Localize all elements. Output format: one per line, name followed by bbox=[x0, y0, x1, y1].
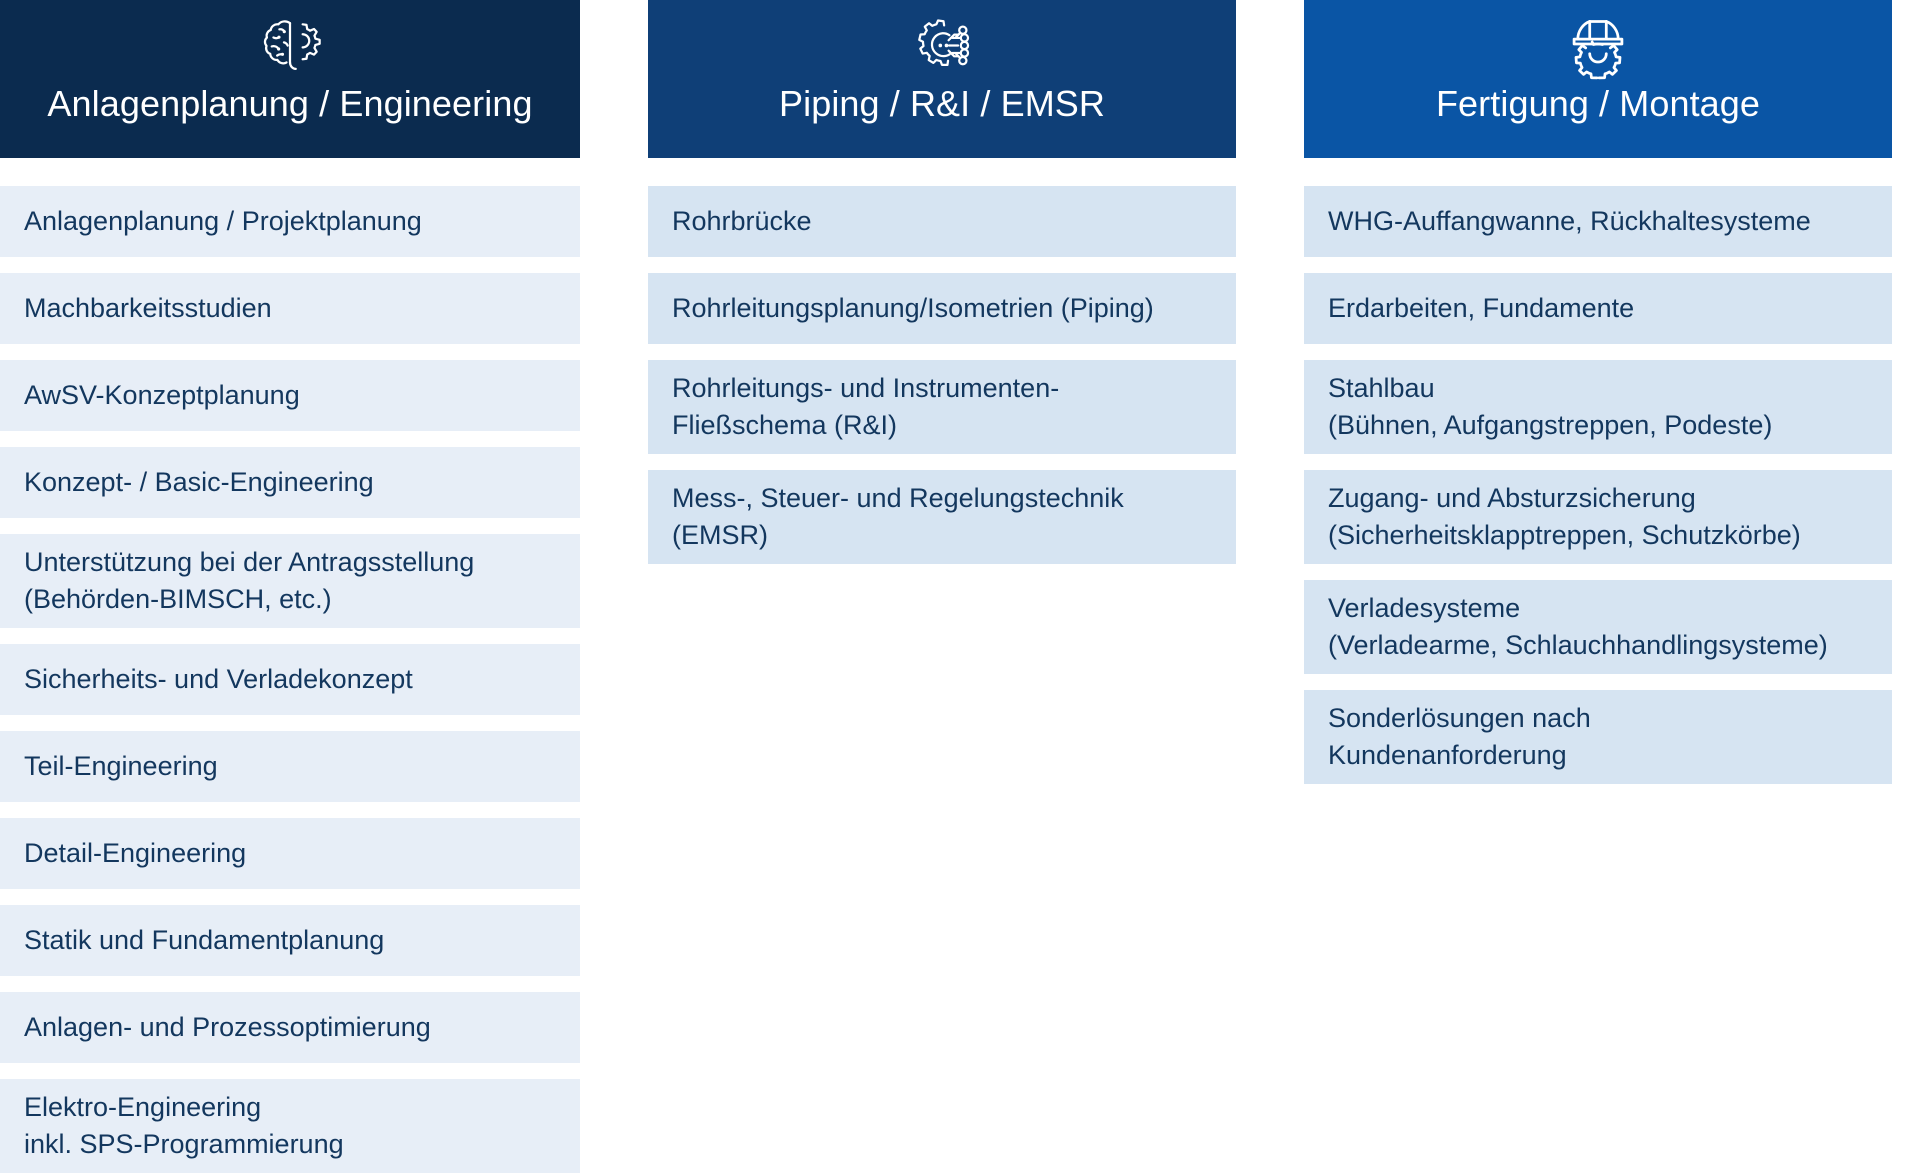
service-item-label: Unterstützung bei der Antragsstellung (B… bbox=[24, 544, 474, 618]
service-item-label: Mess-, Steuer- und Regelungstechnik (EMS… bbox=[672, 480, 1124, 554]
service-item-list-fertigung-montage: WHG-Auffangwanne, Rückhaltesysteme Erdar… bbox=[1304, 186, 1892, 784]
service-item-label: Sonderlösungen nach Kundenanforderung bbox=[1328, 700, 1591, 774]
hard-hat-gear-icon bbox=[1564, 12, 1632, 80]
service-item-label: Machbarkeitsstudien bbox=[24, 290, 272, 327]
service-overview-board: Anlagenplanung / Engineering Anlagenplan… bbox=[0, 0, 1920, 1141]
service-item[interactable]: Erdarbeiten, Fundamente bbox=[1304, 273, 1892, 344]
gear-circuit-icon bbox=[908, 12, 976, 80]
service-item[interactable]: Stahlbau (Bühnen, Aufgangstreppen, Podes… bbox=[1304, 360, 1892, 454]
service-column-piping-ri-emsr: Piping / R&I / EMSR Rohrbrücke Rohrleitu… bbox=[648, 0, 1236, 564]
service-item[interactable]: Verladesysteme (Verladearme, Schlauchhan… bbox=[1304, 580, 1892, 674]
service-columns: Anlagenplanung / Engineering Anlagenplan… bbox=[0, 0, 1920, 1173]
column-header-anlagenplanung-engineering: Anlagenplanung / Engineering bbox=[0, 0, 580, 158]
service-item[interactable]: Konzept- / Basic-Engineering bbox=[0, 447, 580, 518]
service-column-anlagenplanung-engineering: Anlagenplanung / Engineering Anlagenplan… bbox=[0, 0, 580, 1173]
service-item-label: Zugang- und Absturzsicherung (Sicherheit… bbox=[1328, 480, 1801, 554]
service-item[interactable]: Anlagenplanung / Projektplanung bbox=[0, 186, 580, 257]
service-item-label: WHG-Auffangwanne, Rückhaltesysteme bbox=[1328, 203, 1811, 240]
service-item-label: Statik und Fundamentplanung bbox=[24, 922, 384, 959]
service-item[interactable]: Sonderlösungen nach Kundenanforderung bbox=[1304, 690, 1892, 784]
column-title: Fertigung / Montage bbox=[1436, 82, 1760, 126]
brain-gear-icon bbox=[256, 12, 324, 80]
service-item-label: Rohrbrücke bbox=[672, 203, 812, 240]
service-item-label: Sicherheits- und Verladekonzept bbox=[24, 661, 413, 698]
service-item[interactable]: Elektro-Engineering inkl. SPS-Programmie… bbox=[0, 1079, 580, 1173]
service-item[interactable]: Sicherheits- und Verladekonzept bbox=[0, 644, 580, 715]
service-item-label: Anlagen- und Prozessoptimierung bbox=[24, 1009, 431, 1046]
service-item[interactable]: Unterstützung bei der Antragsstellung (B… bbox=[0, 534, 580, 628]
column-header-fertigung-montage: Fertigung / Montage bbox=[1304, 0, 1892, 158]
service-item[interactable]: Rohrbrücke bbox=[648, 186, 1236, 257]
service-item-label: Konzept- / Basic-Engineering bbox=[24, 464, 374, 501]
service-item-label: Verladesysteme (Verladearme, Schlauchhan… bbox=[1328, 590, 1828, 664]
service-item-label: Stahlbau (Bühnen, Aufgangstreppen, Podes… bbox=[1328, 370, 1772, 444]
service-column-fertigung-montage: Fertigung / Montage WHG-Auffangwanne, Rü… bbox=[1304, 0, 1892, 784]
service-item[interactable]: Anlagen- und Prozessoptimierung bbox=[0, 992, 580, 1063]
service-item-label: Anlagenplanung / Projektplanung bbox=[24, 203, 422, 240]
service-item-label: AwSV-Konzeptplanung bbox=[24, 377, 300, 414]
service-item[interactable]: Rohrleitungs- und Instrumenten- Fließsch… bbox=[648, 360, 1236, 454]
column-header-piping-ri-emsr: Piping / R&I / EMSR bbox=[648, 0, 1236, 158]
service-item-list-anlagenplanung-engineering: Anlagenplanung / Projektplanung Machbark… bbox=[0, 186, 580, 1173]
service-item[interactable]: Mess-, Steuer- und Regelungstechnik (EMS… bbox=[648, 470, 1236, 564]
service-item-label: Rohrleitungsplanung/Isometrien (Piping) bbox=[672, 290, 1154, 327]
service-item[interactable]: Statik und Fundamentplanung bbox=[0, 905, 580, 976]
service-item-label: Erdarbeiten, Fundamente bbox=[1328, 290, 1634, 327]
service-item[interactable]: Zugang- und Absturzsicherung (Sicherheit… bbox=[1304, 470, 1892, 564]
service-item[interactable]: AwSV-Konzeptplanung bbox=[0, 360, 580, 431]
service-item[interactable]: Rohrleitungsplanung/Isometrien (Piping) bbox=[648, 273, 1236, 344]
service-item-label: Teil-Engineering bbox=[24, 748, 218, 785]
column-title: Piping / R&I / EMSR bbox=[779, 82, 1105, 126]
service-item[interactable]: Detail-Engineering bbox=[0, 818, 580, 889]
service-item[interactable]: Machbarkeitsstudien bbox=[0, 273, 580, 344]
service-item-label: Rohrleitungs- und Instrumenten- Fließsch… bbox=[672, 370, 1059, 444]
service-item-label: Elektro-Engineering inkl. SPS-Programmie… bbox=[24, 1089, 344, 1163]
service-item-list-piping-ri-emsr: Rohrbrücke Rohrleitungsplanung/Isometrie… bbox=[648, 186, 1236, 564]
service-item[interactable]: Teil-Engineering bbox=[0, 731, 580, 802]
column-title: Anlagenplanung / Engineering bbox=[47, 82, 532, 126]
service-item-label: Detail-Engineering bbox=[24, 835, 246, 872]
service-item[interactable]: WHG-Auffangwanne, Rückhaltesysteme bbox=[1304, 186, 1892, 257]
